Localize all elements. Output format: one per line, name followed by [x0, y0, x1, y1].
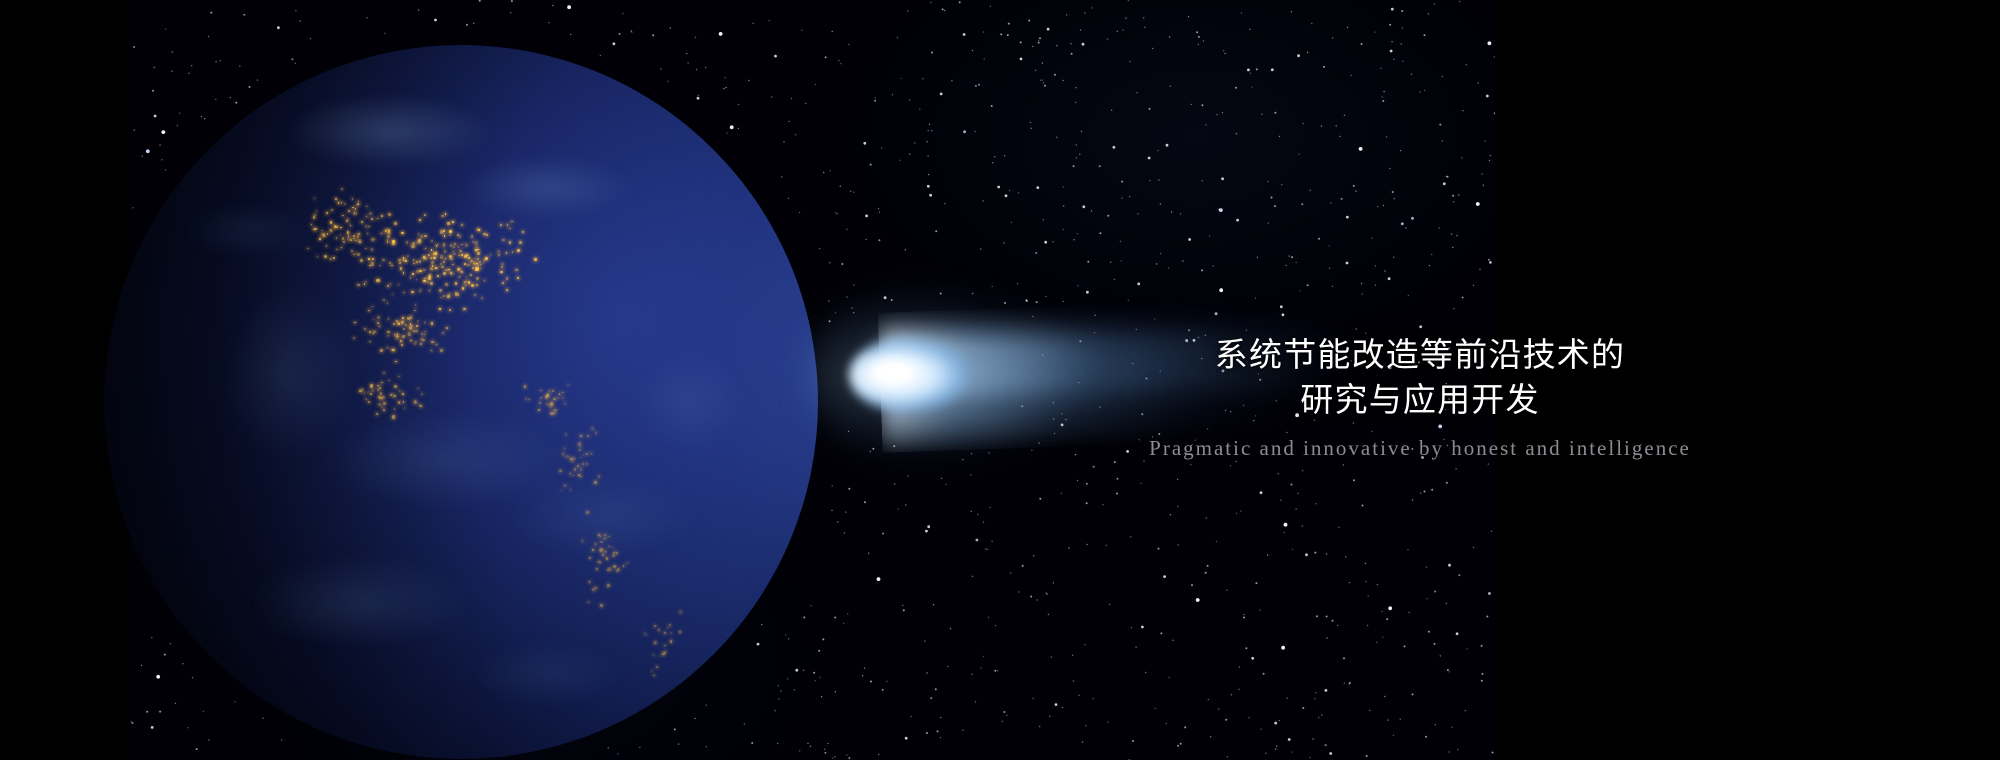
earth-limb-highlight	[104, 45, 818, 759]
headline-line-1: 系统节能改造等前沿技术的	[940, 332, 1900, 377]
earth-globe-night-side	[104, 45, 818, 759]
headline-line-2: 研究与应用开发	[940, 377, 1900, 422]
hero-banner: 系统节能改造等前沿技术的 研究与应用开发 Pragmatic and innov…	[0, 0, 2000, 760]
headline: 系统节能改造等前沿技术的 研究与应用开发	[940, 332, 1900, 422]
subheadline: Pragmatic and innovative by honest and i…	[940, 435, 1900, 461]
hero-copy: 系统节能改造等前沿技术的 研究与应用开发 Pragmatic and innov…	[940, 332, 1900, 461]
